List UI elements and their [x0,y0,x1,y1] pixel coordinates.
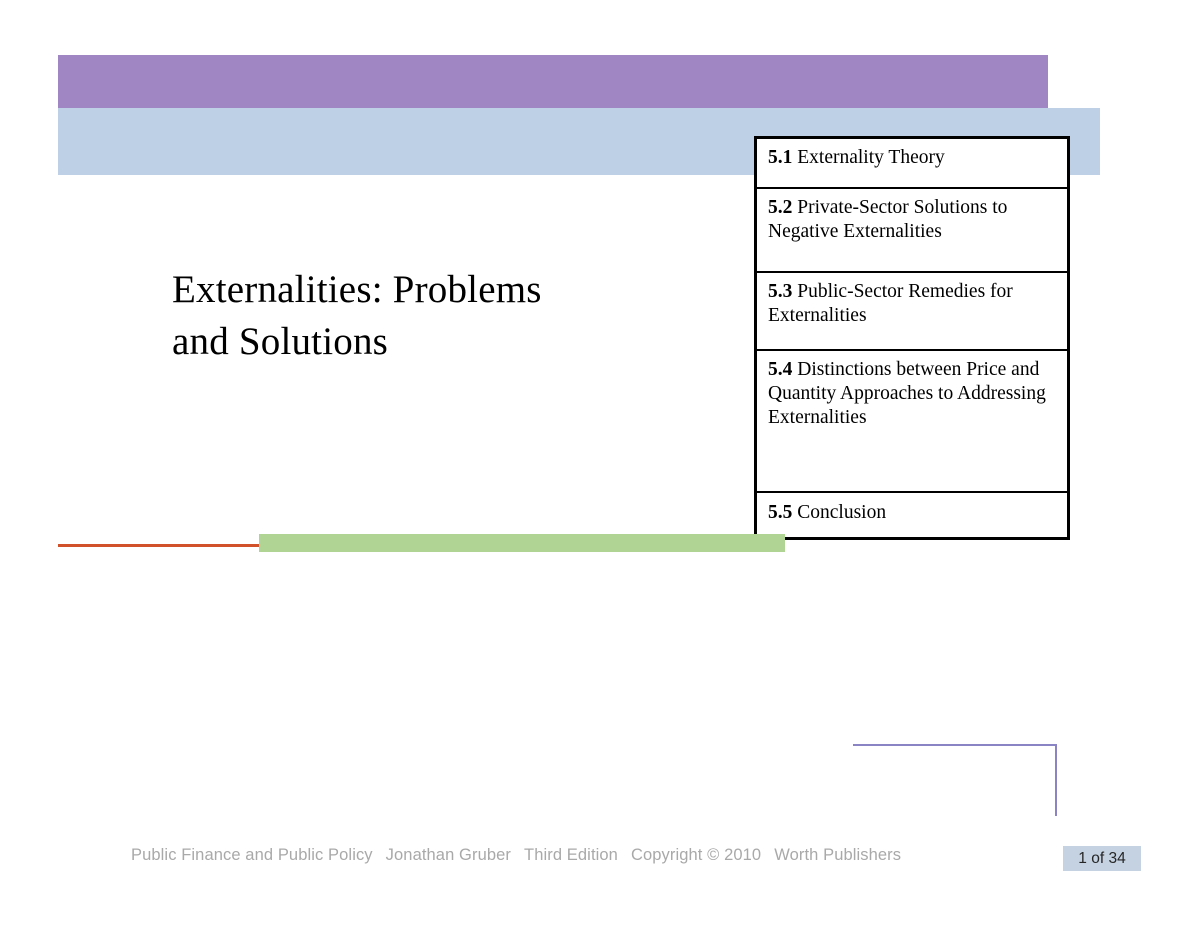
toc-row-5-5[interactable]: 5.5 Conclusion [757,493,1067,537]
toc-label-5-3: Public-Sector Remedies for Externalities [768,281,1013,326]
toc-row-5-3[interactable]: 5.3 Public-Sector Remedies for Externali… [757,273,1067,351]
footer-book-title: Public Finance and Public Policy [131,846,373,864]
page-title: Externalities: Problems and Solutions [172,264,672,368]
toc-number-5-2: 5.2 [768,197,792,218]
accent-rule-orange [58,544,259,547]
corner-rule-horizontal [853,744,1057,746]
accent-band-green [259,534,785,552]
footer-credits: Public Finance and Public PolicyJonathan… [131,846,901,865]
toc-label-5-4: Distinctions between Price and Quantity … [768,359,1046,428]
page-number-label: 1 of 34 [1078,850,1125,868]
corner-rule-vertical [1055,744,1057,816]
toc-label-5-2: Private-Sector Solutions to Negative Ext… [768,197,1007,242]
page-title-line-1: Externalities: Problems [172,264,672,316]
toc-number-5-4: 5.4 [768,359,792,380]
footer-author: Jonathan Gruber [386,846,511,864]
page-number-badge: 1 of 34 [1063,846,1141,871]
toc-label-5-1: Externality Theory [792,147,944,168]
slide-canvas: Externalities: Problems and Solutions 5.… [0,0,1200,927]
toc-number-5-5: 5.5 [768,502,792,523]
table-of-contents: 5.1 Externality Theory 5.2 Private-Secto… [754,136,1070,540]
toc-label-5-5: Conclusion [792,502,886,523]
page-title-line-2: and Solutions [172,316,672,368]
footer-edition: Third Edition [524,846,618,864]
toc-number-5-3: 5.3 [768,281,792,302]
header-band-purple [58,55,1048,108]
footer-copyright: Copyright © 2010 [631,846,761,864]
toc-row-5-2[interactable]: 5.2 Private-Sector Solutions to Negative… [757,189,1067,273]
toc-row-5-4[interactable]: 5.4 Distinctions between Price and Quant… [757,351,1067,493]
toc-number-5-1: 5.1 [768,147,792,168]
toc-row-5-1[interactable]: 5.1 Externality Theory [757,139,1067,189]
footer-publisher: Worth Publishers [774,846,901,864]
